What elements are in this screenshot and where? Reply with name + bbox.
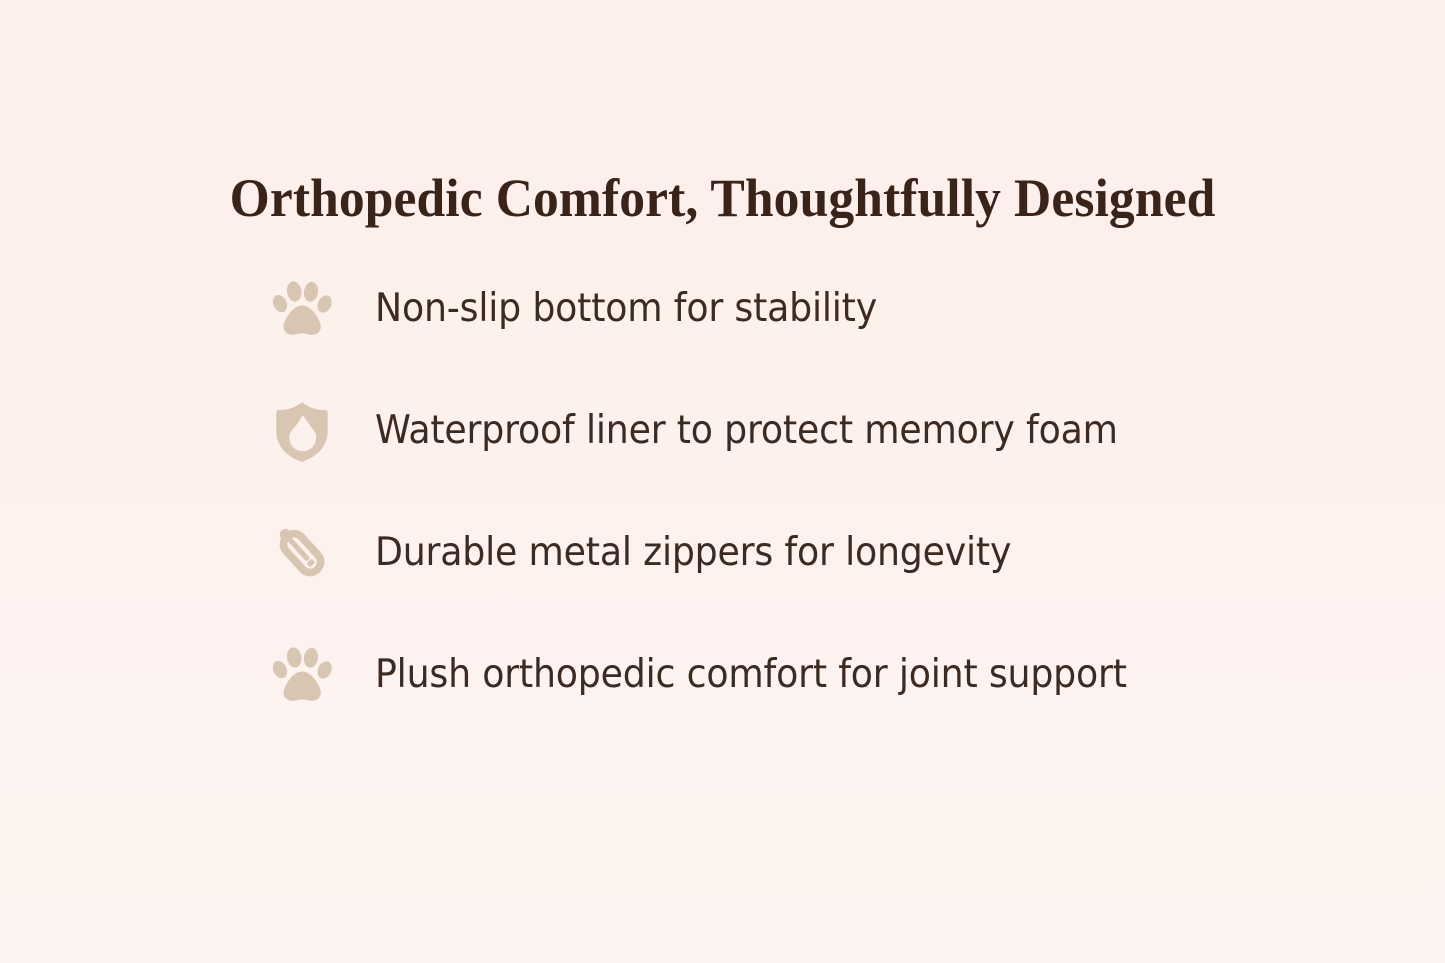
- shield-waterproof-icon: [262, 391, 342, 471]
- paw-print-icon: [262, 269, 342, 349]
- feature-item: Waterproof liner to protect memory foam: [262, 370, 1282, 492]
- feature-item: Non-slip bottom for stability: [262, 248, 1282, 370]
- feature-label: Durable metal zippers for longevity: [375, 529, 1011, 577]
- paw-print-icon: [262, 635, 342, 715]
- zipper-icon: [262, 513, 342, 593]
- feature-label: Plush orthopedic comfort for joint suppo…: [375, 651, 1127, 699]
- feature-item: Plush orthopedic comfort for joint suppo…: [262, 614, 1282, 736]
- feature-item: Durable metal zippers for longevity: [262, 492, 1282, 614]
- feature-label: Non-slip bottom for stability: [375, 285, 877, 333]
- feature-highlights-panel: Orthopedic Comfort, Thoughtfully Designe…: [0, 0, 1445, 963]
- feature-label: Waterproof liner to protect memory foam: [375, 407, 1118, 455]
- page-title: Orthopedic Comfort, Thoughtfully Designe…: [33, 164, 1413, 232]
- feature-list: Non-slip bottom for stability Waterproof…: [262, 248, 1282, 736]
